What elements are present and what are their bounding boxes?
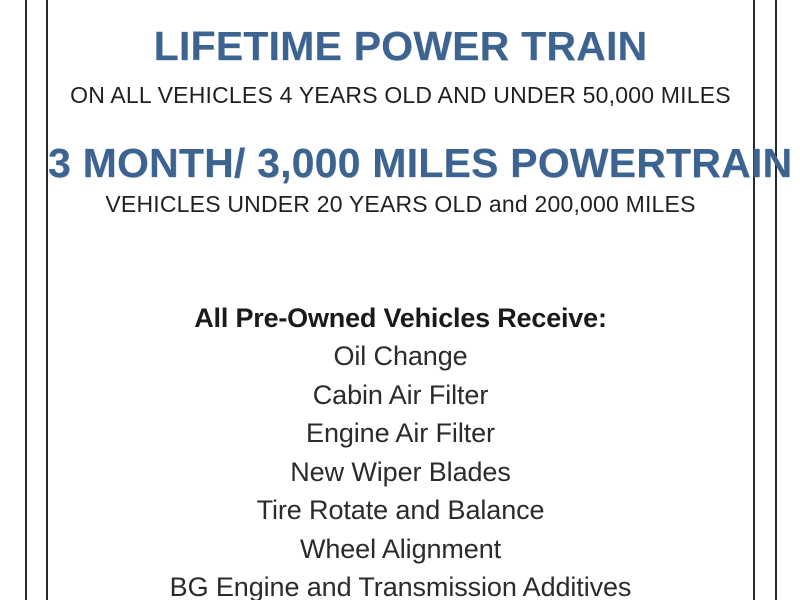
warranty-headline-text: 3 MONTH/ 3,000 MILES POWERTRAIN — [48, 140, 792, 186]
frame-rule-right-outer — [775, 0, 777, 600]
warranty-headline-lifetime-powertrain: LIFETIME POWER TRAIN — [48, 26, 753, 67]
services-list-title: All Pre-Owned Vehicles Receive: — [48, 299, 753, 337]
warranty-headline-text: LIFETIME POWER TRAIN — [154, 23, 648, 69]
services-list-item: BG Engine and Transmission Additives — [48, 568, 753, 600]
services-list-item: Tire Rotate and Balance — [48, 491, 753, 530]
services-list-item: Engine Air Filter — [48, 414, 753, 453]
warranty-subhead-lifetime-powertrain: ON ALL VEHICLES 4 YEARS OLD AND UNDER 50… — [48, 84, 753, 108]
flyer-content: LIFETIME POWER TRAIN ON ALL VEHICLES 4 Y… — [48, 0, 753, 600]
frame-rule-right-inner — [753, 0, 755, 600]
warranty-headline-3month-powertrain: 3 MONTH/ 3,000 MILES POWERTRAIN — [48, 143, 753, 184]
services-list-item: New Wiper Blades — [48, 453, 753, 492]
frame-rule-left-outer — [25, 0, 27, 600]
services-list-item: Wheel Alignment — [48, 530, 753, 569]
warranty-subhead-text: VEHICLES UNDER 20 YEARS OLD and 200,000 … — [105, 191, 695, 217]
services-list-item: Oil Change — [48, 337, 753, 376]
warranty-subhead-text: ON ALL VEHICLES 4 YEARS OLD AND UNDER 50… — [70, 82, 731, 108]
warranty-flyer: LIFETIME POWER TRAIN ON ALL VEHICLES 4 Y… — [0, 0, 800, 600]
services-section: All Pre-Owned Vehicles Receive: Oil Chan… — [48, 299, 753, 600]
services-list-item: Cabin Air Filter — [48, 376, 753, 415]
warranty-subhead-3month-powertrain: VEHICLES UNDER 20 YEARS OLD and 200,000 … — [48, 193, 753, 217]
